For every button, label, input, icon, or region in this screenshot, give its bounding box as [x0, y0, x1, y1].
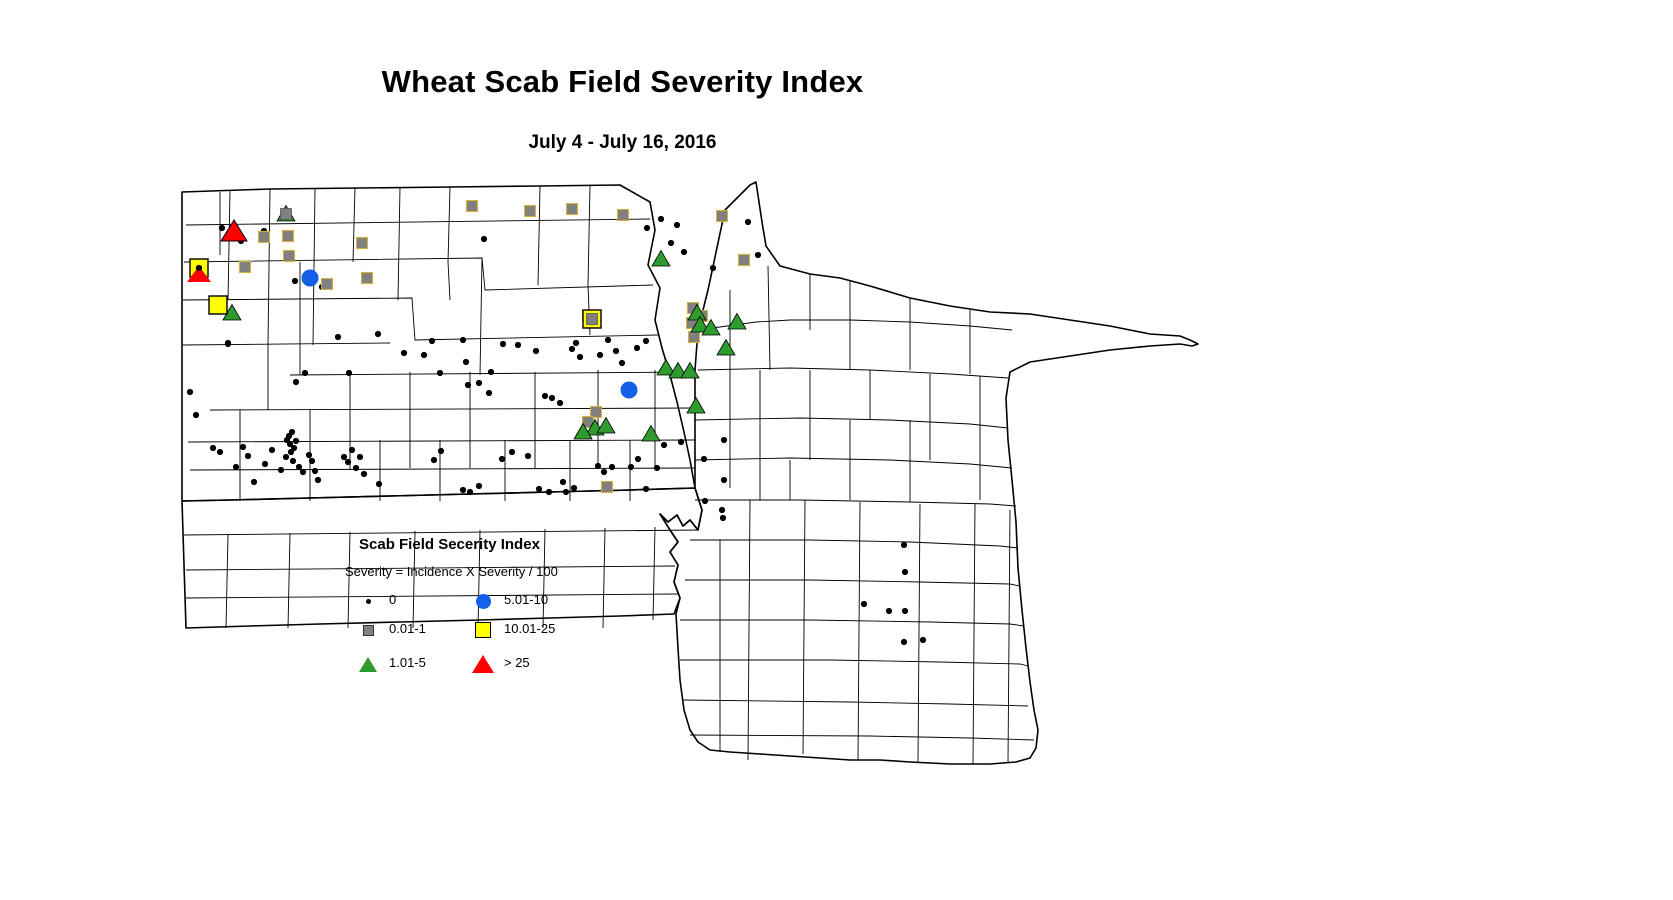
legend-dot-icon [355, 588, 381, 614]
severity-point [283, 454, 289, 460]
severity-point [269, 447, 275, 453]
severity-point [467, 201, 478, 212]
legend-label: 0.01-1 [389, 621, 426, 636]
severity-point [262, 461, 268, 467]
severity-point [476, 380, 482, 386]
severity-point [289, 429, 295, 435]
severity-point [678, 439, 684, 445]
severity-point [302, 270, 319, 287]
severity-point [689, 332, 700, 343]
severity-point [658, 216, 664, 222]
legend-label: 0 [389, 592, 396, 607]
severity-point [560, 479, 566, 485]
severity-point [292, 278, 298, 284]
severity-point [345, 459, 351, 465]
map-page: Wheat Scab Field Severity Index July 4 -… [0, 0, 1673, 900]
severity-point [467, 489, 473, 495]
map-svg [150, 170, 1230, 790]
severity-point [476, 483, 482, 489]
severity-point [335, 334, 341, 340]
legend-label: 10.01-25 [504, 621, 555, 636]
severity-point [219, 225, 225, 231]
severity-point [240, 444, 246, 450]
severity-point [361, 471, 367, 477]
legend-green-triangle-icon [355, 651, 381, 677]
severity-point [717, 340, 735, 356]
legend-row: 1.01-5 > 25 [345, 646, 665, 680]
legend-gray-square-icon [355, 617, 381, 643]
severity-point [567, 204, 578, 215]
legend-title: Scab Field Secerity Index [345, 536, 665, 553]
severity-point [681, 363, 699, 379]
severity-point [755, 252, 761, 258]
severity-point [643, 486, 649, 492]
severity-point [421, 352, 427, 358]
severity-point [463, 359, 469, 365]
severity-point [595, 463, 601, 469]
state-outlines [182, 182, 1198, 764]
severity-point [349, 447, 355, 453]
severity-point [302, 370, 308, 376]
severity-point [609, 464, 615, 470]
severity-point [210, 445, 216, 451]
legend-formula: Severity = Incidence X Severity / 100 [345, 564, 675, 579]
severity-point [674, 222, 680, 228]
severity-point [283, 231, 294, 242]
severity-point [486, 390, 492, 396]
severity-point-overlay [587, 314, 598, 325]
severity-point [315, 477, 321, 483]
severity-point [710, 265, 716, 271]
severity-point [357, 238, 368, 249]
map-canvas[interactable] [150, 170, 1230, 790]
severity-point [557, 400, 563, 406]
legend-label: 5.01-10 [504, 592, 548, 607]
severity-point [259, 232, 270, 243]
page-title: Wheat Scab Field Severity Index [0, 64, 1245, 100]
legend-row: 0.01-1 10.01-25 [345, 617, 665, 646]
severity-point [251, 479, 257, 485]
legend-red-triangle-icon [470, 651, 496, 677]
severity-point [284, 251, 295, 262]
severity-point [291, 445, 297, 451]
severity-point [187, 389, 193, 395]
severity-point-overlay [196, 265, 202, 271]
severity-point [597, 352, 603, 358]
legend-entries: 0 5.01-10 0.01-1 10.01-25 [345, 588, 665, 680]
severity-point [525, 206, 536, 217]
severity-point [605, 337, 611, 343]
severity-point [902, 569, 908, 575]
severity-point [296, 464, 302, 470]
severity-point [602, 482, 613, 493]
severity-point [717, 211, 728, 222]
severity-point [920, 637, 926, 643]
severity-point [745, 219, 751, 225]
legend-yellow-square-icon [470, 617, 496, 643]
severity-point [601, 469, 607, 475]
severity-point [193, 412, 199, 418]
severity-point [225, 341, 231, 347]
severity-point [431, 457, 437, 463]
severity-point [721, 477, 727, 483]
severity-point [563, 489, 569, 495]
severity-point [739, 255, 750, 266]
severity-point [668, 240, 674, 246]
severity-point [481, 236, 487, 242]
severity-point [209, 296, 227, 314]
severity-point [500, 341, 506, 347]
severity-point [376, 481, 382, 487]
legend-circle-icon [470, 588, 496, 614]
severity-point [621, 382, 638, 399]
severity-point [901, 639, 907, 645]
severity-point [341, 454, 347, 460]
severity-point [353, 465, 359, 471]
severity-point [221, 220, 247, 241]
severity-point [499, 456, 505, 462]
severity-point [634, 345, 640, 351]
severity-point [702, 498, 708, 504]
severity-point [375, 331, 381, 337]
severity-point [549, 395, 555, 401]
severity-point [465, 382, 471, 388]
severity-point [628, 464, 634, 470]
severity-point [701, 456, 707, 462]
severity-point-overlay [281, 209, 292, 220]
severity-point [569, 346, 575, 352]
severity-point [643, 338, 649, 344]
severity-point [293, 379, 299, 385]
severity-point [597, 418, 615, 434]
severity-point [618, 210, 629, 221]
severity-point [290, 458, 296, 464]
severity-point [901, 542, 907, 548]
page-subtitle: July 4 - July 16, 2016 [0, 132, 1245, 154]
severity-point [635, 456, 641, 462]
severity-point [460, 337, 466, 343]
severity-point [861, 601, 867, 607]
severity-point [429, 338, 435, 344]
severity-point [322, 279, 333, 290]
legend-row: 0 5.01-10 [345, 588, 665, 617]
severity-point [721, 437, 727, 443]
severity-point [728, 314, 746, 330]
severity-point [719, 507, 725, 513]
map-legend: Scab Field Secerity Index Severity = Inc… [345, 530, 665, 685]
severity-point [401, 350, 407, 356]
legend-label: > 25 [504, 655, 530, 670]
severity-point [542, 393, 548, 399]
severity-point [438, 448, 444, 454]
severity-point [309, 458, 315, 464]
severity-point [546, 489, 552, 495]
severity-point [293, 438, 299, 444]
severity-point [300, 469, 306, 475]
severity-point [488, 369, 494, 375]
severity-point [509, 449, 515, 455]
severity-point [437, 370, 443, 376]
severity-point [533, 348, 539, 354]
severity-point [886, 608, 892, 614]
severity-point [278, 467, 284, 473]
severity-point [346, 370, 352, 376]
severity-point [681, 249, 687, 255]
legend-label: 1.01-5 [389, 655, 426, 670]
severity-point [536, 486, 542, 492]
severity-point [720, 515, 726, 521]
severity-point [573, 340, 579, 346]
severity-point [245, 453, 251, 459]
severity-point [312, 468, 318, 474]
severity-point [661, 442, 667, 448]
severity-point [591, 407, 602, 418]
severity-point [571, 485, 577, 491]
severity-point [362, 273, 373, 284]
severity-point [642, 426, 660, 442]
severity-point [902, 608, 908, 614]
severity-point [525, 453, 531, 459]
severity-point [240, 262, 251, 273]
severity-point [687, 398, 705, 414]
severity-point [577, 354, 583, 360]
severity-point [654, 465, 660, 471]
severity-point [515, 342, 521, 348]
severity-point [652, 251, 670, 267]
severity-point [644, 225, 650, 231]
severity-point [306, 452, 312, 458]
severity-point [233, 464, 239, 470]
severity-point [619, 360, 625, 366]
severity-point [613, 348, 619, 354]
severity-point [217, 449, 223, 455]
severity-point [357, 454, 363, 460]
severity-point [460, 487, 466, 493]
